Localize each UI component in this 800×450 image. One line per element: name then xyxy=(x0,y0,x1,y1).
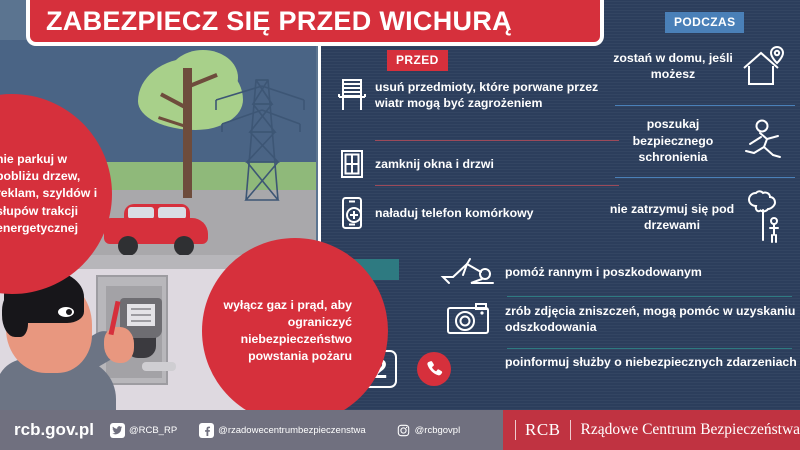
rcb-brand-block: RCB Rządowe Centrum Bezpieczeństwa xyxy=(503,410,800,450)
infographic-root: nie parkuj w pobliżu drzew, reklam, szyl… xyxy=(0,0,800,450)
injured-person-icon xyxy=(431,256,505,288)
meter-switch-bar xyxy=(142,362,176,371)
during-item-3: nie zatrzymuj się pod drzewami xyxy=(607,190,799,244)
after-item-1: pomóż rannym i poszkodowanym xyxy=(431,256,800,288)
before-divider-1 xyxy=(375,140,619,141)
before-item-1-text: usuń przedmioty, które porwane przez wia… xyxy=(375,79,619,112)
during-item-1: zostań w domu, jeśli możesz xyxy=(613,44,799,88)
before-item-3: naładuj telefon komórkowy xyxy=(329,196,619,230)
chair-icon xyxy=(329,78,375,112)
before-item-1: usuń przedmioty, które porwane przez wia… xyxy=(329,78,619,112)
person-hair-side xyxy=(2,293,28,337)
after-divider-1 xyxy=(507,296,792,297)
badge-podczas-wrap: PODCZAS xyxy=(665,12,744,33)
social-instagram[interactable]: @rcbgovpl xyxy=(396,423,461,438)
after-item-1-text: pomóż rannym i poszkodowanym xyxy=(505,264,702,281)
before-item-2: zamknij okna i drzwi xyxy=(329,148,619,180)
after-item-3-text: poinformuj służby o niebezpiecznych zdar… xyxy=(505,354,797,371)
tree-person-icon xyxy=(737,190,793,244)
header-banner: ZABEZPIECZ SIĘ PRZED WICHURĄ xyxy=(26,0,604,46)
during-item-2: poszukaj bezpiecznego schronienia xyxy=(613,116,799,166)
power-pylon-icon xyxy=(212,62,307,202)
page-title: ZABEZPIECZ SIĘ PRZED WICHURĄ xyxy=(46,8,512,35)
instagram-handle: @rcbgovpl xyxy=(415,425,461,436)
after-item-2-text: zrób zdjęcia zniszczeń, mogą pomóc w uzy… xyxy=(505,303,800,336)
car-wheel-rear xyxy=(174,236,194,255)
during-divider-2 xyxy=(615,177,795,178)
running-person-icon xyxy=(733,119,793,163)
before-item-3-text: naładuj telefon komórkowy xyxy=(375,205,534,222)
social-twitter[interactable]: @RCB_RP xyxy=(110,423,177,438)
social-facebook[interactable]: @rzadowecentrumbezpieczenstwa xyxy=(199,423,365,438)
person-pupil xyxy=(66,309,72,315)
before-item-2-text: zamknij okna i drzwi xyxy=(375,156,494,173)
twitter-handle: @RCB_RP xyxy=(129,425,177,436)
window-icon xyxy=(329,148,375,180)
house-pin-icon xyxy=(733,44,793,88)
bubble-turn-off-gas: wyłącz gaz i prąd, aby ograniczyć niebez… xyxy=(202,238,388,424)
rcb-brand-name: Rządowe Centrum Bezpieczeństwa xyxy=(581,421,800,439)
badge-przed: PRZED xyxy=(387,50,448,71)
during-item-1-text: zostań w domu, jeśli możesz xyxy=(613,50,733,83)
after-item-3: poinformuj służby o niebezpiecznych zdar… xyxy=(505,354,800,371)
twitter-icon xyxy=(110,423,125,438)
facebook-handle: @rzadowecentrumbezpieczenstwa xyxy=(218,425,365,436)
during-item-2-text: poszukaj bezpiecznego schronienia xyxy=(613,116,733,166)
before-divider-2 xyxy=(375,185,619,186)
instagram-icon xyxy=(396,423,411,438)
facebook-icon xyxy=(199,423,214,438)
after-divider-2 xyxy=(507,348,792,349)
badge-przed-wrap: PRZED xyxy=(387,50,448,71)
car-wheel-front xyxy=(118,236,138,255)
phone-call-icon xyxy=(417,352,451,386)
advice-panel: PODCZAS PRZED PO usuń przedmioty, które … xyxy=(318,0,800,410)
website-label[interactable]: rcb.gov.pl xyxy=(14,420,94,440)
footer-bar: rcb.gov.pl @RCB_RP @rzadowecentrumbezpie… xyxy=(0,410,800,450)
during-item-3-text: nie zatrzymuj się pod drzewami xyxy=(607,201,737,234)
camera-icon xyxy=(431,302,505,336)
phone-charge-icon xyxy=(329,196,375,230)
during-divider-1 xyxy=(615,105,795,106)
bubble-no-parking-text: nie parkuj w pobliżu drzew, reklam, szyl… xyxy=(0,151,106,237)
meter-display xyxy=(127,304,155,326)
rcb-logo-mark: RCB xyxy=(515,420,571,440)
after-item-2: zrób zdjęcia zniszczeń, mogą pomóc w uzy… xyxy=(431,302,800,336)
bubble-turn-off-gas-text: wyłącz gaz i prąd, aby ograniczyć niebez… xyxy=(208,297,352,366)
badge-podczas: PODCZAS xyxy=(665,12,744,33)
